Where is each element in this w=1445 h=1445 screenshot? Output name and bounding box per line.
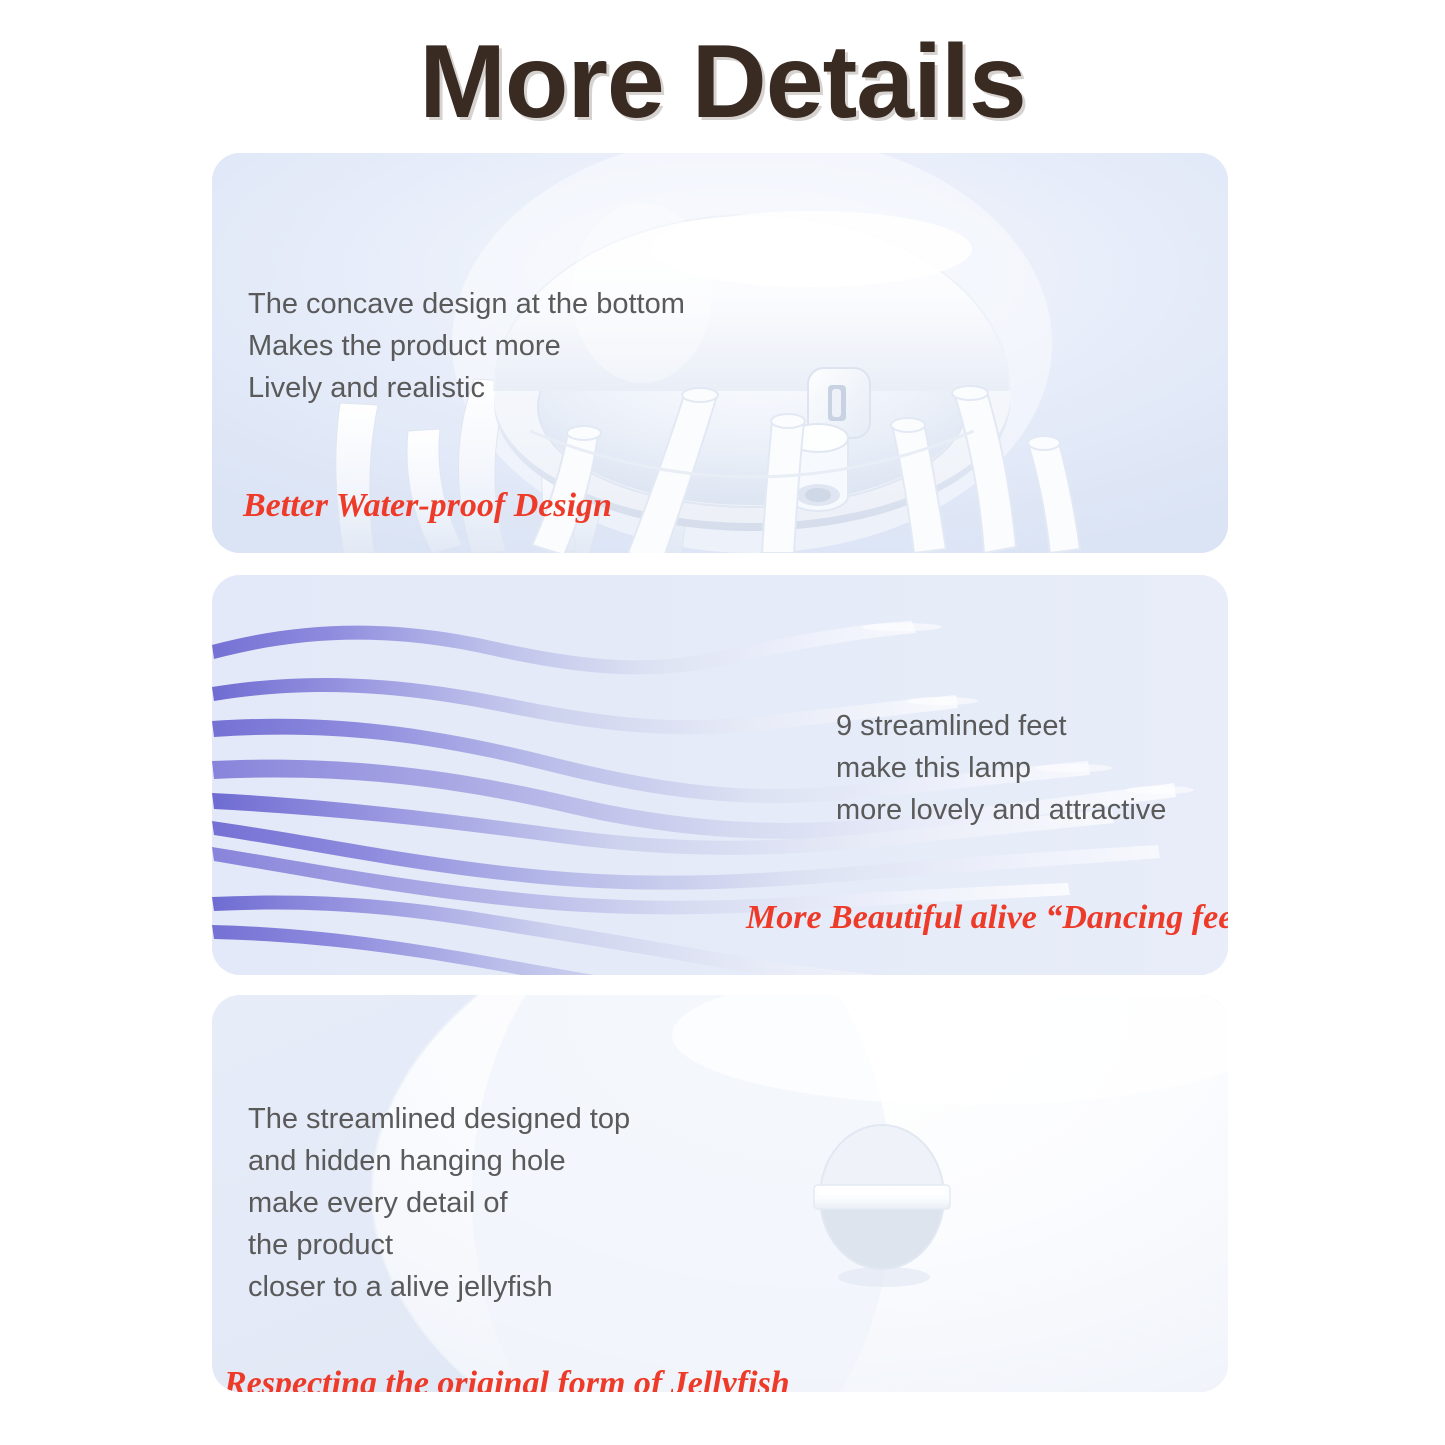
detail-panel-waterproof: The concave design at the bottom Makes t…: [212, 153, 1228, 553]
detail-panel-hanging-hole: The streamlined designed top and hidden …: [212, 995, 1228, 1392]
panel-caption: More Beautiful alive “Dancing feet”: [746, 899, 1228, 937]
panel-caption: Respecting the original form of Jellyfis…: [224, 1365, 790, 1392]
panel-caption: Better Water-proof Design: [243, 487, 612, 525]
panel-body-text: The concave design at the bottom Makes t…: [248, 283, 685, 409]
panel-body-text: 9 streamlined feet make this lamp more l…: [836, 705, 1166, 831]
panel-body-text: The streamlined designed top and hidden …: [248, 1098, 630, 1308]
detail-panel-dancing-feet: 9 streamlined feet make this lamp more l…: [212, 575, 1228, 975]
page-title: More Details: [0, 28, 1445, 137]
